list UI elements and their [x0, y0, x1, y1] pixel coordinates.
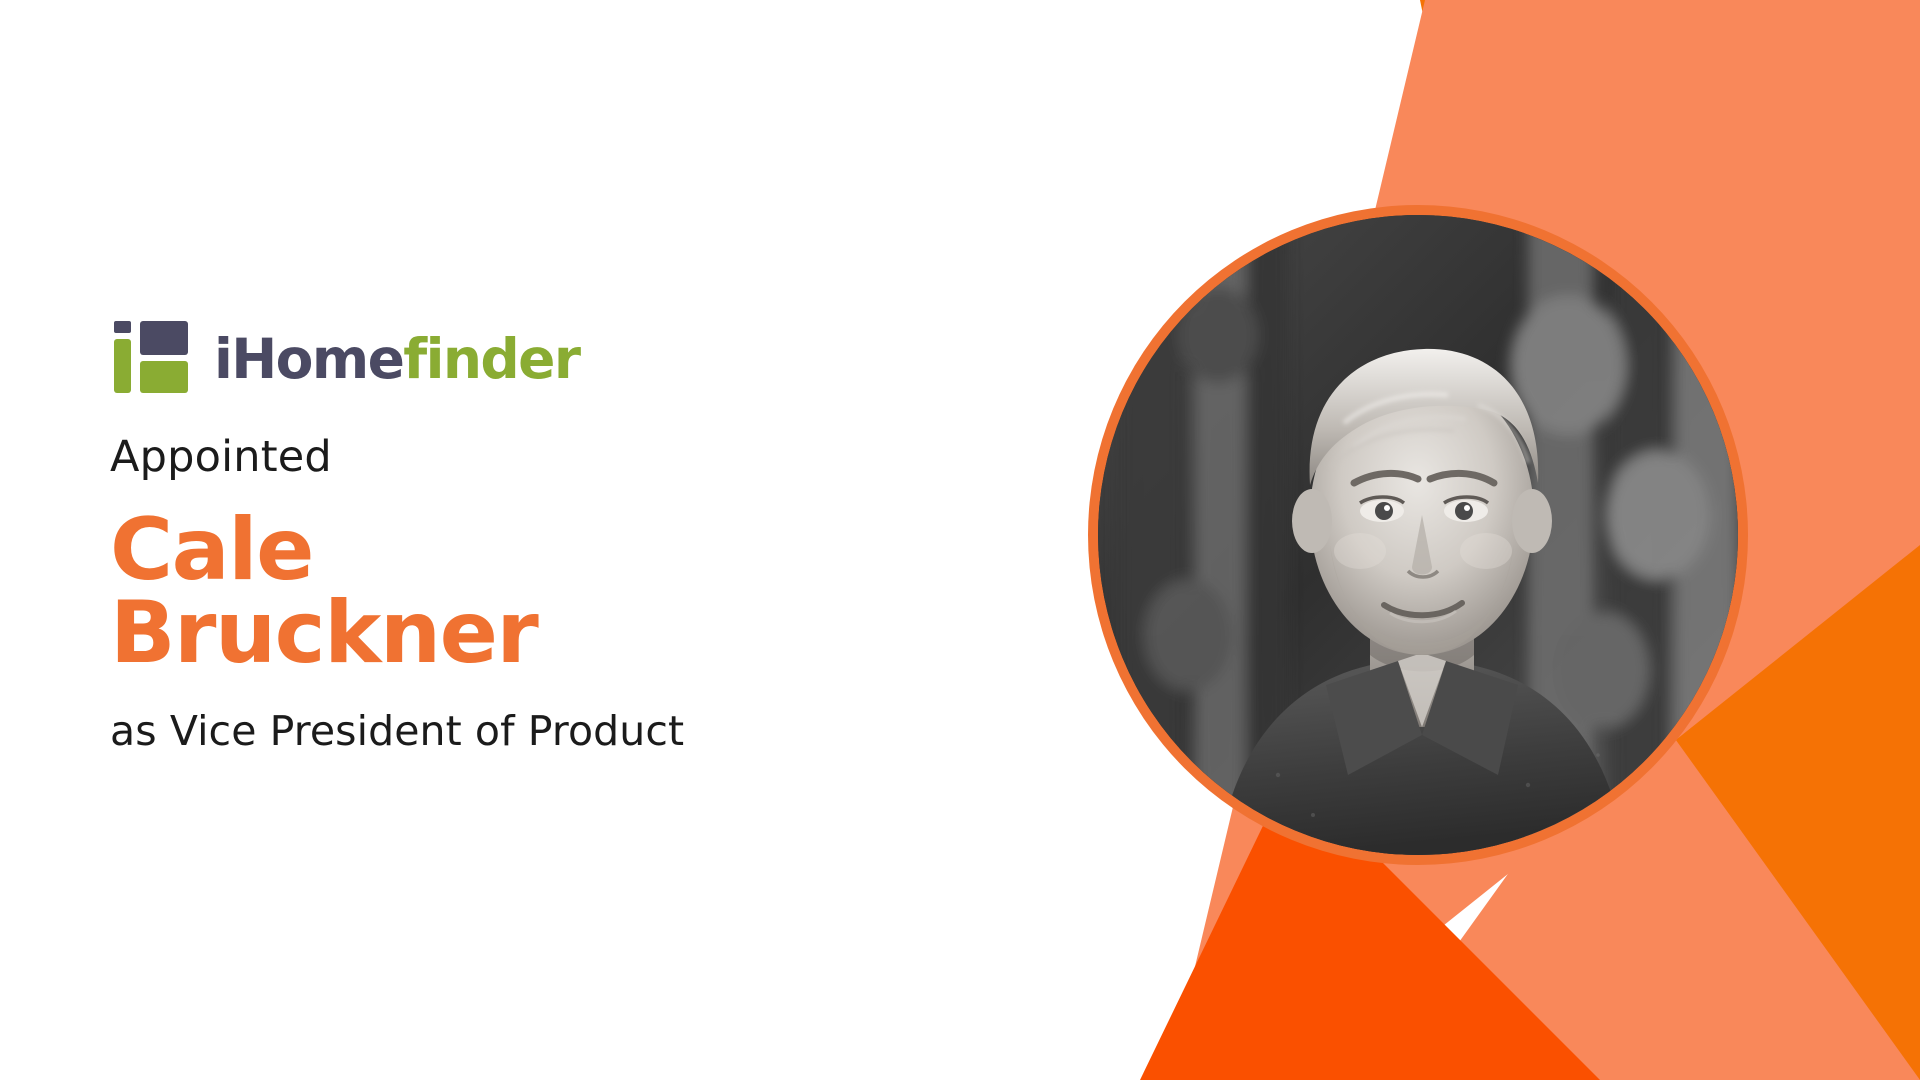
announcement-card: iHomefinder Appointed Cale Bruckner as V…: [0, 0, 1920, 1080]
person-name: Cale Bruckner: [110, 509, 630, 674]
brand-wordmark-green: finder: [403, 327, 579, 391]
portrait-ring: [1088, 205, 1748, 865]
person-role: as Vice President of Product: [110, 708, 870, 755]
brand-wordmark: iHomefinder: [214, 332, 579, 387]
ihomefinder-logo-mark-icon: [110, 319, 196, 395]
brand-logo[interactable]: iHomefinder: [110, 318, 870, 396]
brand-wordmark-dark: iHome: [214, 327, 403, 391]
text-column: iHomefinder Appointed Cale Bruckner as V…: [110, 318, 870, 756]
portrait-illustration: [1098, 215, 1738, 855]
portrait-photo: [1098, 215, 1738, 855]
eyebrow-appointed: Appointed: [110, 434, 870, 481]
person-name-first: Cale: [110, 509, 630, 592]
person-name-last: Bruckner: [110, 592, 630, 675]
